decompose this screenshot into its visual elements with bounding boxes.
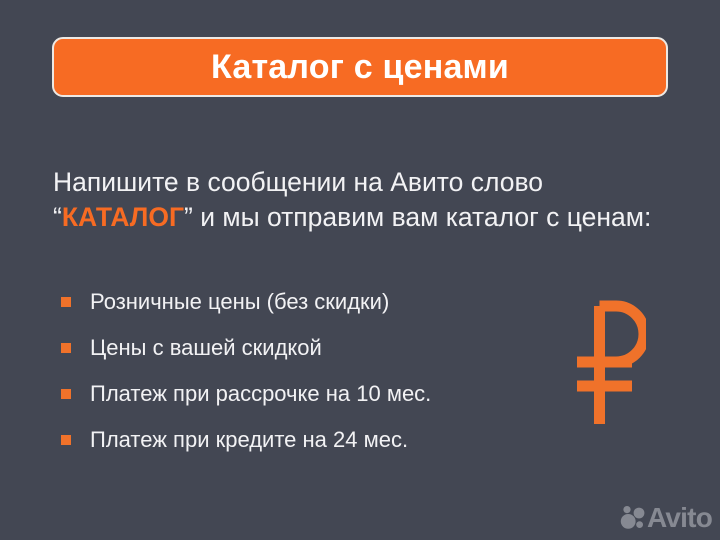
list-item: Платеж при кредите на 24 мес. [61,417,581,463]
list-item-label: Розничные цены (без скидки) [90,291,389,313]
avito-wordmark: Avito [647,504,712,532]
ruble-sign-icon [572,300,646,430]
keyword-catalog: КАТАЛОГ [62,202,184,232]
avito-logo-icon [620,505,646,531]
bullet-list: Розничные цены (без скидки) Цены с вашей… [61,279,581,463]
list-item: Розничные цены (без скидки) [61,279,581,325]
square-bullet-icon [61,343,71,353]
slide-canvas: Каталог с ценами Напишите в сообщении на… [0,0,720,540]
square-bullet-icon [61,297,71,307]
quote-open: “ [53,202,62,232]
list-item-label: Платеж при кредите на 24 мес. [90,429,408,451]
page-title: Каталог с ценами [211,50,509,84]
intro-text-after: и мы отправим вам каталог с ценам: [193,202,651,232]
list-item-label: Платеж при рассрочке на 10 мес. [90,383,431,405]
quote-close: ” [184,202,193,232]
title-banner: Каталог с ценами [52,37,668,97]
intro-text-before: Напишите в сообщении на Авито слово [53,167,543,197]
list-item-label: Цены с вашей скидкой [90,337,322,359]
list-item: Цены с вашей скидкой [61,325,581,371]
avito-watermark: Avito [620,504,712,532]
square-bullet-icon [61,389,71,399]
square-bullet-icon [61,435,71,445]
list-item: Платеж при рассрочке на 10 мес. [61,371,581,417]
intro-paragraph: Напишите в сообщении на Авито слово “КАТ… [53,165,653,235]
